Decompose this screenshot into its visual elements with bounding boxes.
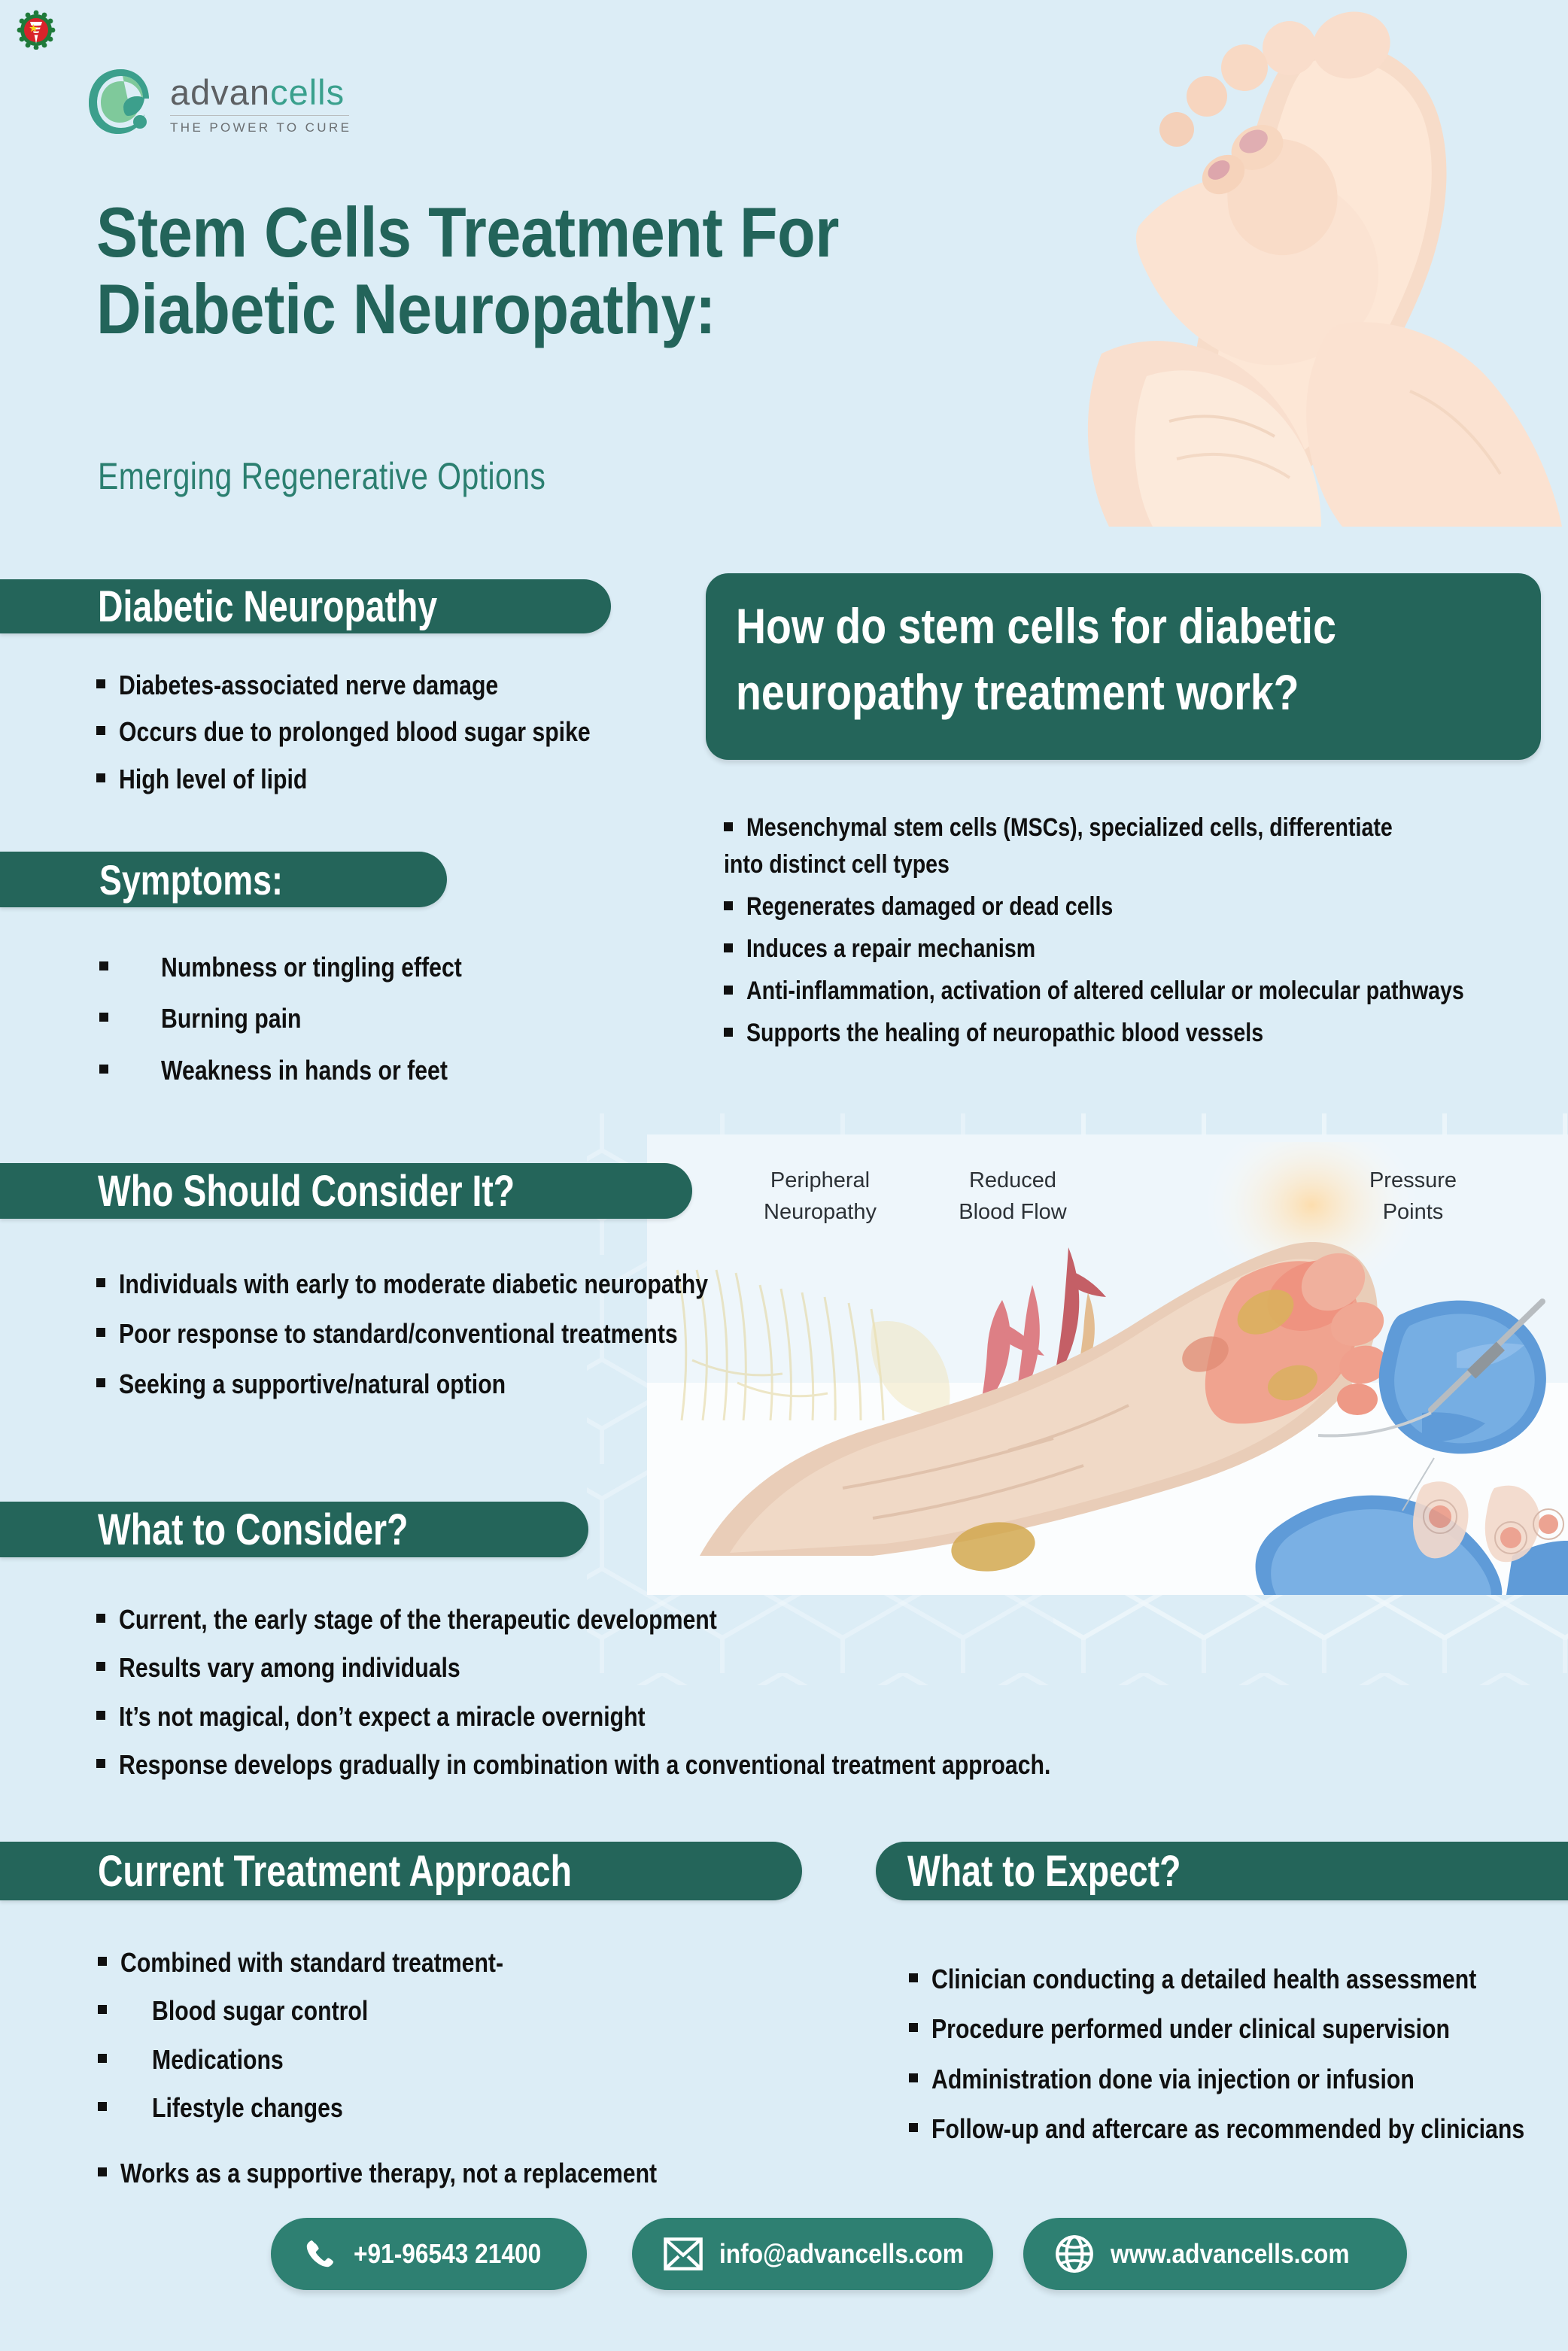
- title-line-2: Diabetic Neuropathy:: [96, 271, 957, 348]
- list-symptoms: Numbness or tingling effect Burning pain…: [99, 952, 641, 1086]
- email-address: info@advancells.com: [719, 2238, 964, 2270]
- list-item: Diabetes-associated nerve damage: [96, 670, 638, 701]
- list-item: Individuals with early to moderate diabe…: [96, 1268, 773, 1300]
- list-what-to-consider: Current, the early stage of the therapeu…: [96, 1604, 999, 1781]
- envelope-icon: [664, 2237, 703, 2271]
- list-what-to-expect: Clinician conducting a detailed health a…: [909, 1964, 1568, 2146]
- list-diabetic-neuropathy: Diabetes-associated nerve damage Occurs …: [96, 670, 638, 795]
- bullet-dot-icon: [98, 1957, 107, 1966]
- diagram-label-pressure-l1: Pressure: [1369, 1168, 1457, 1192]
- heading-what-to-consider: What to Consider?: [0, 1502, 588, 1557]
- website-url: www.advancells.com: [1111, 2238, 1350, 2270]
- bullet-dot-icon: [98, 2054, 107, 2063]
- bullet-dot-icon: [98, 2167, 107, 2176]
- bullet-dot-icon: [96, 1614, 105, 1623]
- heading-label: Diabetic Neuropathy: [98, 582, 437, 632]
- bullet-dot-icon: [724, 822, 733, 831]
- diagram-label-peripheral-l2: Neuropathy: [764, 1200, 877, 1224]
- list-item: Results vary among individuals: [96, 1652, 999, 1684]
- bullet-dot-icon: [909, 1973, 918, 1982]
- contact-website-pill[interactable]: www.advancells.com: [1023, 2218, 1407, 2290]
- heading-how-it-works: How do stem cells for diabetic neuropath…: [706, 573, 1541, 760]
- bullet-dot-icon: [96, 679, 105, 688]
- diagram-image-diabetic-foot: Peripheral Neuropathy Reduced Blood Flow…: [647, 1134, 1568, 1595]
- heading-label: What to Consider?: [98, 1505, 408, 1555]
- heading-who-should-consider: Who Should Consider It?: [0, 1163, 692, 1219]
- globe-icon: [1055, 2234, 1094, 2274]
- diagram-label-blood-l1: Reduced: [969, 1168, 1056, 1192]
- list-item: High level of lipid: [96, 764, 638, 795]
- list-item: Current, the early stage of the therapeu…: [96, 1604, 999, 1636]
- list-item: Clinician conducting a detailed health a…: [909, 1964, 1568, 1995]
- page-subtitle: Emerging Regenerative Options: [98, 454, 545, 498]
- phone-icon: [302, 2237, 337, 2271]
- list-item: Mesenchymal stem cells (MSCs), specializ…: [724, 813, 1551, 843]
- heading-label: Current Treatment Approach: [98, 1846, 572, 1897]
- page-title: Stem Cells Treatment For Diabetic Neurop…: [96, 194, 1074, 347]
- contact-phone-pill[interactable]: +91-96543 21400: [271, 2218, 587, 2290]
- list-item: Medications: [98, 2044, 775, 2076]
- heading-symptoms: Symptoms:: [0, 852, 447, 907]
- list-item-continuation: into distinct cell types: [724, 850, 1419, 879]
- diagram-label-blood-l2: Blood Flow: [959, 1200, 1068, 1224]
- heading-what-to-expect: What to Expect?: [876, 1842, 1568, 1900]
- list-item: Works as a supportive therapy, not a rep…: [98, 2158, 775, 2189]
- list-item: Burning pain: [99, 1003, 641, 1034]
- list-current-treatment: Combined with standard treatment- Blood …: [98, 1947, 775, 2189]
- list-item: Procedure performed under clinical super…: [909, 2013, 1568, 2045]
- hero-image-hands-massaging-foot: [1056, 0, 1568, 527]
- list-item: Response develops gradually in combinati…: [96, 1749, 999, 1781]
- logo-word-advan: advan: [170, 74, 270, 110]
- bullet-dot-icon: [98, 2102, 107, 2111]
- bullet-dot-icon: [909, 2023, 918, 2032]
- heading-label: Symptoms:: [99, 855, 283, 904]
- logo-mark-icon: [84, 66, 158, 140]
- phone-number: +91-96543 21400: [354, 2238, 541, 2270]
- diagram-label-pressure-l2: Points: [1383, 1200, 1444, 1224]
- bullet-dot-icon: [96, 773, 105, 782]
- bullet-dot-icon: [724, 901, 733, 910]
- list-item: Blood sugar control: [98, 1995, 775, 2027]
- list-item: Weakness in hands or feet: [99, 1055, 641, 1086]
- contact-email-pill[interactable]: info@advancells.com: [632, 2218, 993, 2290]
- bullet-dot-icon: [96, 1711, 105, 1720]
- list-item: Induces a repair mechanism: [724, 934, 1551, 964]
- bullet-dot-icon: [99, 961, 108, 970]
- heading-line-2: neuropathy treatment work?: [736, 659, 1387, 725]
- logo-word-cells: cells: [270, 74, 345, 110]
- bullet-dot-icon: [96, 726, 105, 735]
- list-item: Regenerates damaged or dead cells: [724, 891, 1551, 922]
- bullet-dot-icon: [98, 2005, 107, 2014]
- bullet-dot-icon: [96, 1662, 105, 1671]
- logo-divider: [170, 115, 349, 116]
- bullet-dot-icon: [724, 986, 733, 995]
- advancells-logo: advancells THE POWER TO CURE: [84, 62, 400, 144]
- list-item: Supports the healing of neuropathic bloo…: [724, 1018, 1551, 1048]
- logo-tagline: THE POWER TO CURE: [170, 120, 351, 135]
- list-item: Lifestyle changes: [98, 2092, 775, 2124]
- bullet-dot-icon: [724, 1028, 733, 1037]
- bullet-dot-icon: [99, 1013, 108, 1022]
- heading-current-treatment: Current Treatment Approach: [0, 1842, 802, 1900]
- bullet-dot-icon: [96, 1278, 105, 1287]
- list-item: Numbness or tingling effect: [99, 952, 641, 983]
- title-line-1: Stem Cells Treatment For: [96, 194, 957, 271]
- heading-line-1: How do stem cells for diabetic: [736, 593, 1387, 659]
- bullet-dot-icon: [99, 1065, 108, 1074]
- list-item: Poor response to standard/conventional t…: [96, 1318, 773, 1350]
- bullet-dot-icon: [96, 1378, 105, 1387]
- list-item: Occurs due to prolonged blood sugar spik…: [96, 716, 638, 748]
- list-item: Combined with standard treatment-: [98, 1947, 775, 1979]
- bullet-dot-icon: [724, 943, 733, 952]
- list-item: Anti-inflammation, activation of altered…: [724, 976, 1551, 1006]
- bullet-dot-icon: [909, 2073, 918, 2082]
- list-item: Follow-up and aftercare as recommended b…: [909, 2113, 1568, 2145]
- list-who-should-consider: Individuals with early to moderate diabe…: [96, 1268, 773, 1400]
- heading-label: What to Expect?: [907, 1846, 1181, 1897]
- company-emblem-icon: [17, 8, 56, 50]
- bullet-dot-icon: [96, 1328, 105, 1337]
- footer-contact-bar: +91-96543 21400 info@advancells.com www.…: [0, 2204, 1568, 2302]
- list-item: It’s not magical, don’t expect a miracle…: [96, 1701, 999, 1733]
- bullet-dot-icon: [96, 1759, 105, 1768]
- list-item: Administration done via injection or inf…: [909, 2064, 1568, 2095]
- heading-label: Who Should Consider It?: [98, 1166, 515, 1217]
- infographic-page: advancells THE POWER TO CURE: [0, 0, 1568, 2351]
- list-item: Seeking a supportive/natural option: [96, 1368, 773, 1400]
- bullet-dot-icon: [909, 2123, 918, 2132]
- list-how-it-works: Mesenchymal stem cells (MSCs), specializ…: [724, 813, 1551, 1049]
- diagram-label-peripheral-l1: Peripheral: [770, 1168, 870, 1192]
- heading-diabetic-neuropathy: Diabetic Neuropathy: [0, 579, 611, 633]
